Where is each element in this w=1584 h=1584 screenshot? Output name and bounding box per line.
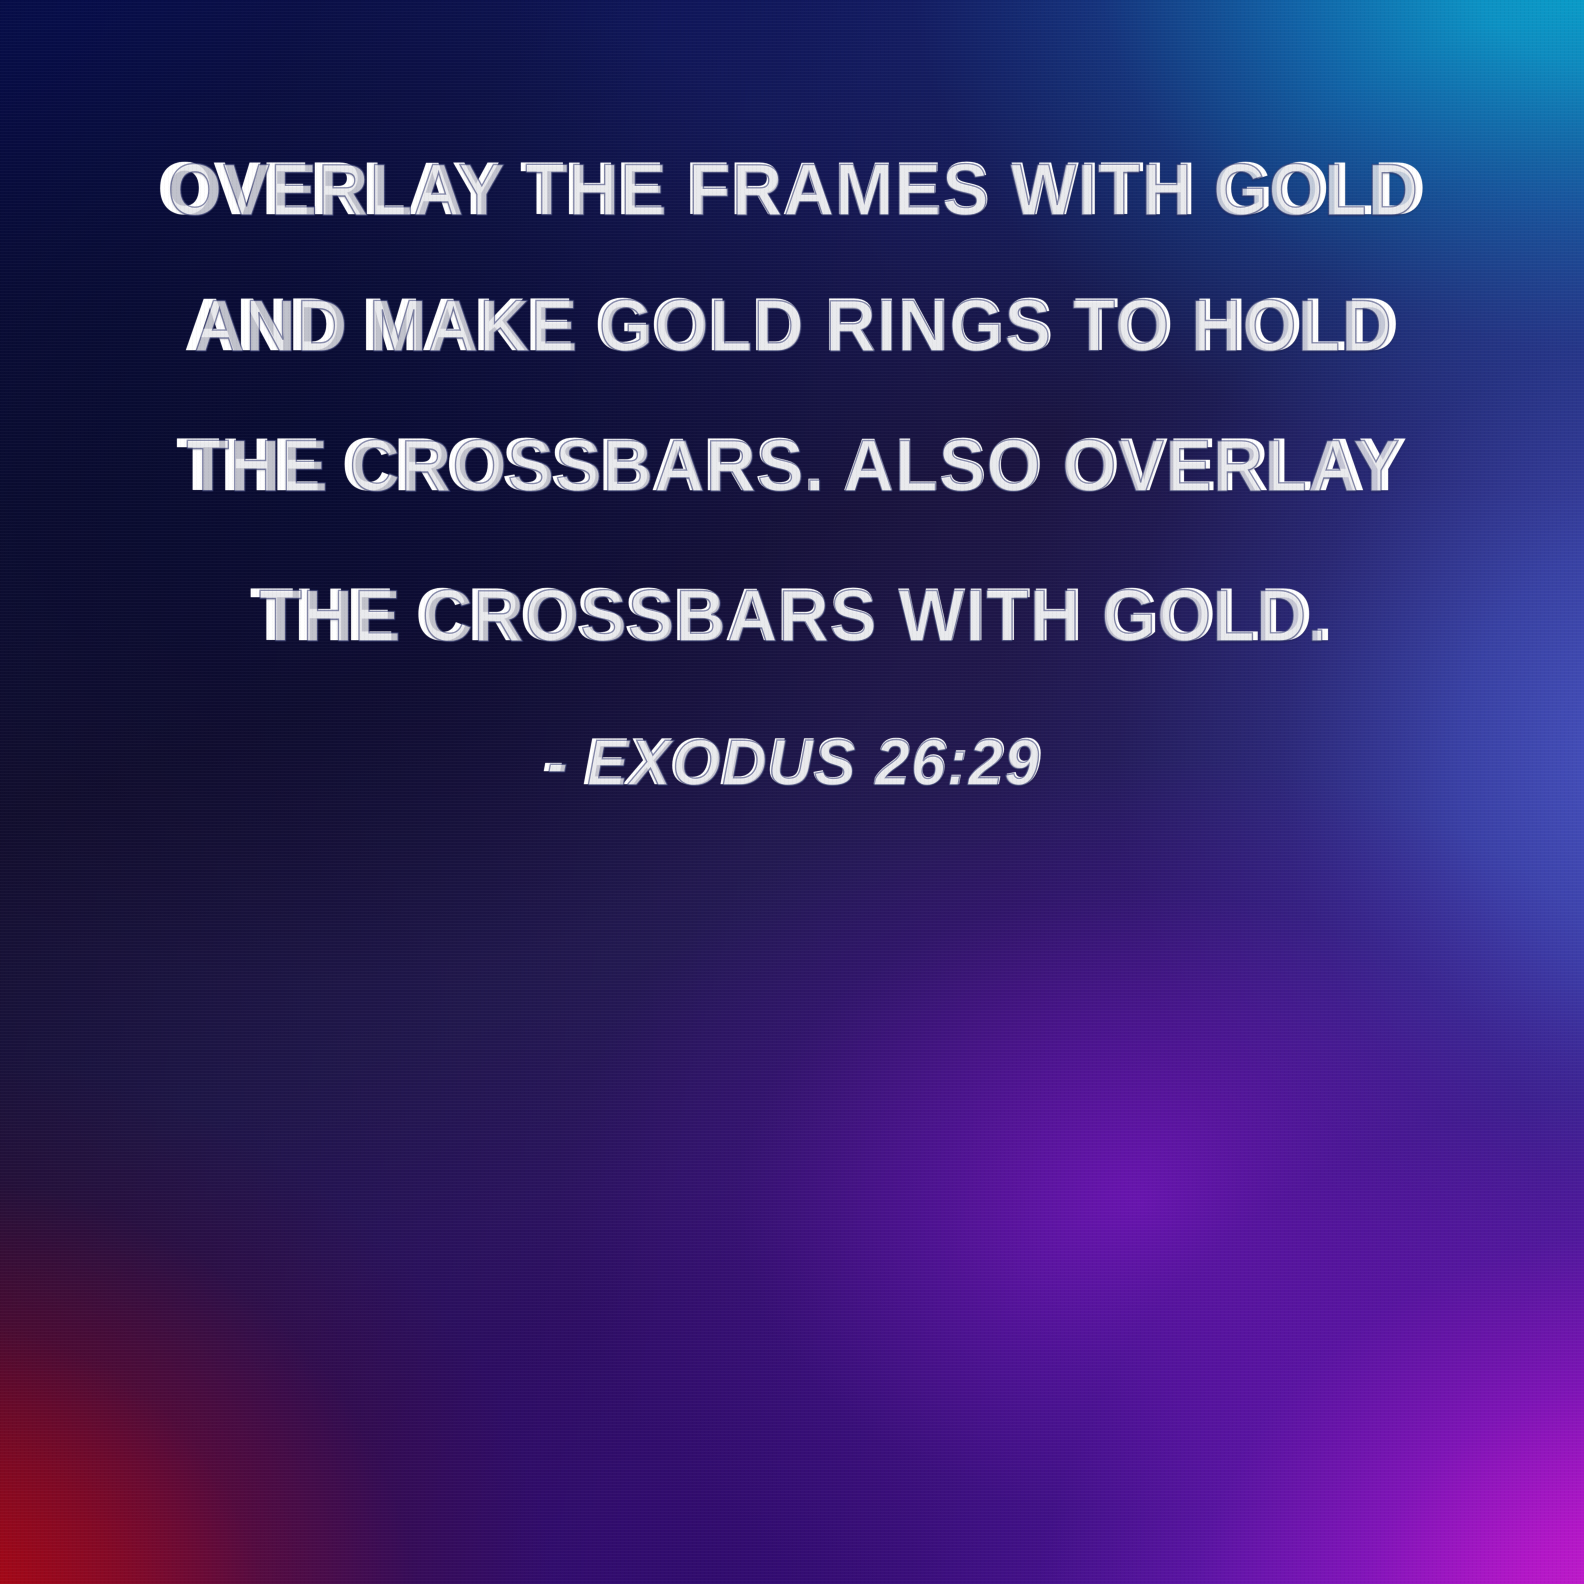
verse-line-text: AND MAKE GOLD RINGS TO HOLD [184, 283, 1399, 366]
verse-line-text: THE CROSSBARS WITH GOLD. [250, 573, 1334, 656]
verse-line: THE CROSSBARS. ALSO OVERLAY THE CROSSBAR… [36, 428, 1549, 502]
verse-line: THE CROSSBARS WITH GOLD. THE CROSSBARS W… [36, 578, 1549, 652]
verse-reference: - EXODUS 26:29 - EXODUS 26:29 [32, 728, 1553, 794]
verse-reference-text: - EXODUS 26:29 [542, 724, 1041, 798]
verse-line-text: THE CROSSBARS. ALSO OVERLAY [176, 423, 1407, 506]
verse-image-canvas: OVERLAY THE FRAMES WITH GOLD OVERLAY THE… [0, 0, 1584, 1584]
verse-line: OVERLAY THE FRAMES WITH GOLD OVERLAY THE… [36, 152, 1549, 226]
verse-line-text: OVERLAY THE FRAMES WITH GOLD [158, 147, 1427, 230]
verse-line: AND MAKE GOLD RINGS TO HOLD AND MAKE GOL… [36, 288, 1549, 362]
